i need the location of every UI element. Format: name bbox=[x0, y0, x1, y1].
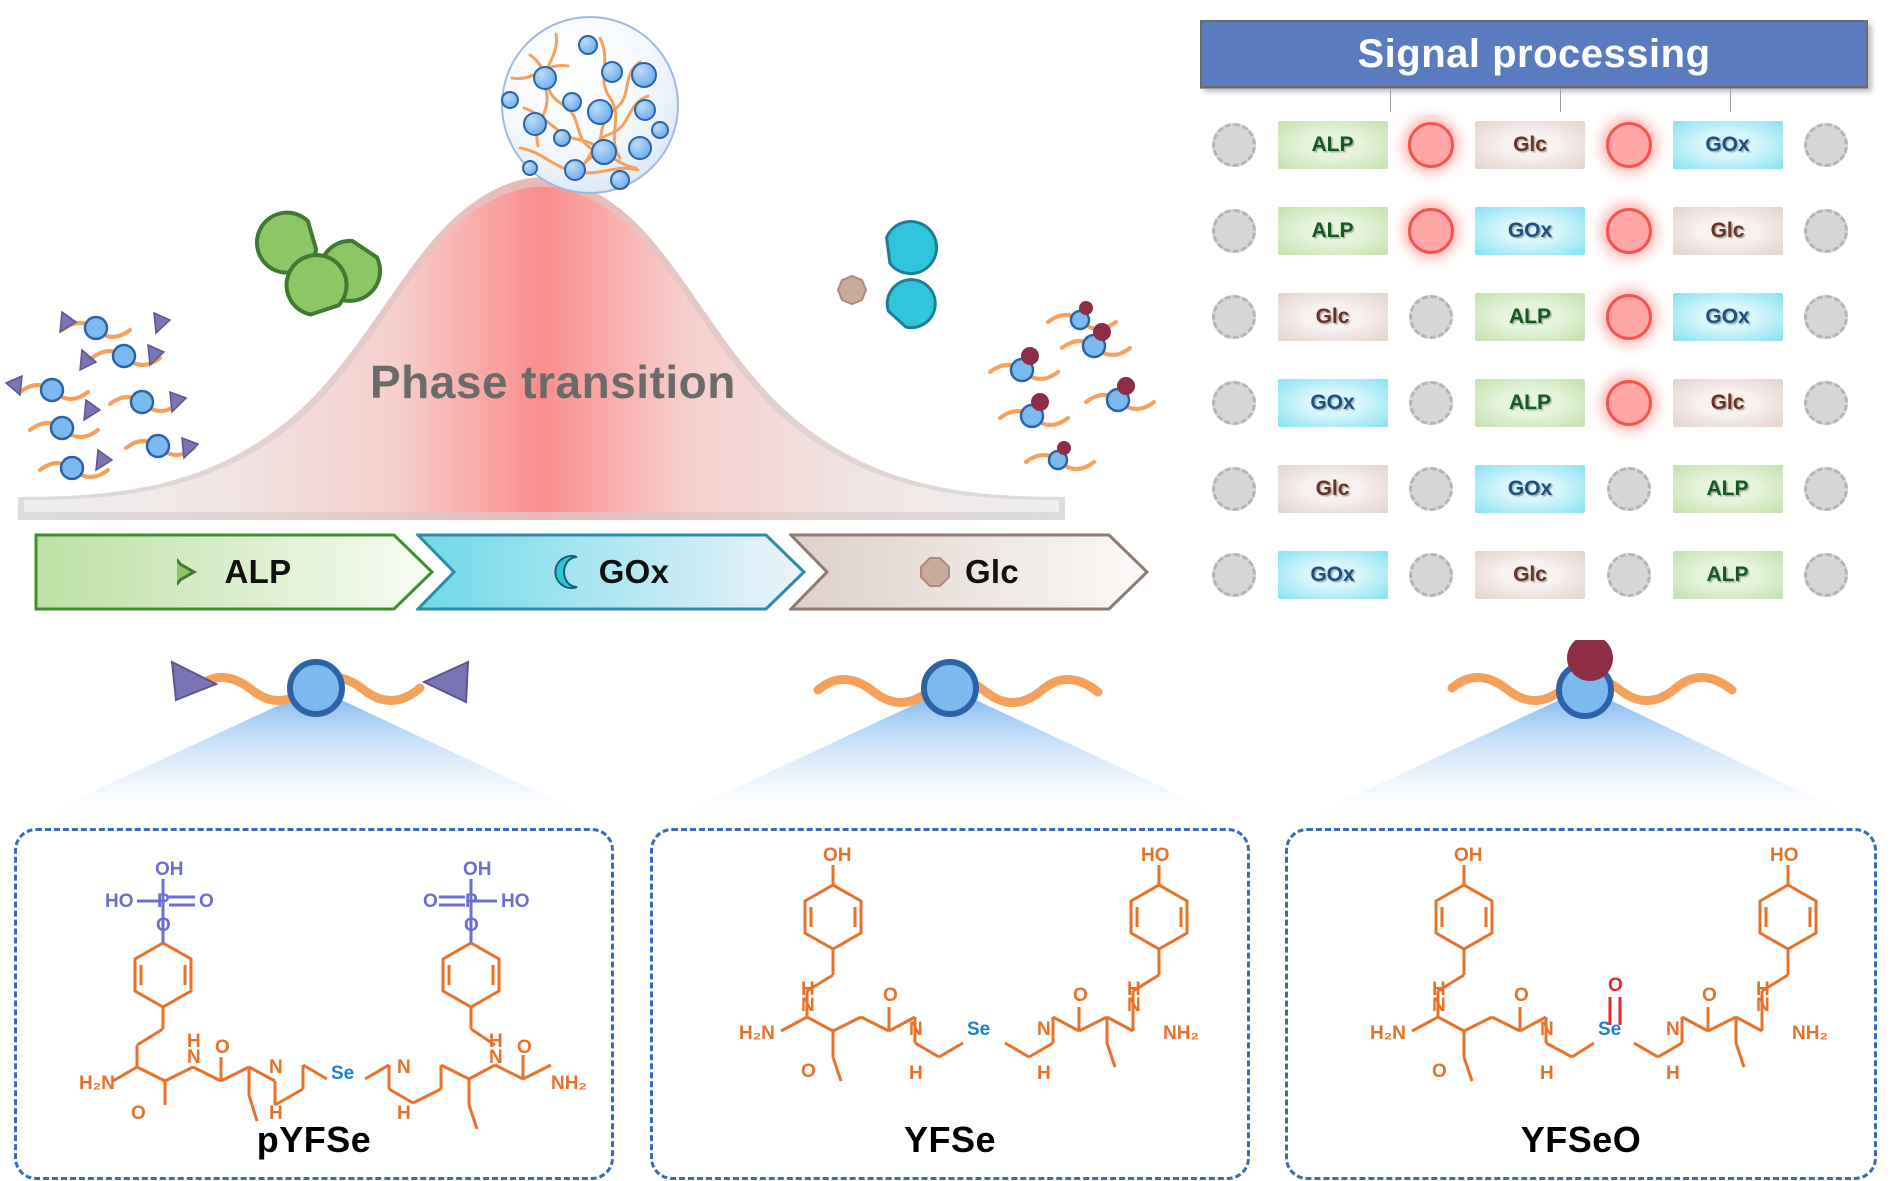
atom-label: O bbox=[1702, 985, 1717, 1006]
inactive-node-icon bbox=[1607, 467, 1651, 511]
pacman-green-icon bbox=[177, 555, 211, 589]
atom-label: NH₂ bbox=[1163, 1023, 1199, 1044]
atom-label: O bbox=[156, 915, 171, 936]
atom-label: N bbox=[1540, 1019, 1554, 1040]
grid-rule-v3 bbox=[1730, 88, 1731, 112]
grid-dot-red bbox=[1585, 196, 1673, 266]
atom-label: OH bbox=[155, 859, 184, 880]
grid-dot-gray bbox=[1585, 454, 1673, 524]
atom-label: O bbox=[423, 891, 438, 912]
chip-label: GOx bbox=[1475, 465, 1585, 513]
atom-label: H bbox=[187, 1031, 201, 1052]
pyfse-chain-icon bbox=[172, 662, 468, 714]
zoom-beams bbox=[0, 640, 1890, 850]
signal-processing-title: Signal processing bbox=[1200, 20, 1868, 88]
grid-chip-gox[interactable]: GOx bbox=[1278, 540, 1388, 610]
signal-processing-grid: ALPGlcGOxALPGOxGlcGlcALPGOxGOxALPGlcGlcG… bbox=[1190, 110, 1870, 610]
atom-label: O bbox=[517, 1037, 532, 1058]
chip-label: ALP bbox=[1673, 465, 1783, 513]
grid-dot-red bbox=[1585, 282, 1673, 352]
grid-dot-gray bbox=[1190, 368, 1278, 438]
chevron-glc[interactable]: Glc bbox=[789, 533, 1149, 611]
atom-label: N bbox=[1666, 1019, 1680, 1040]
atom-label: O bbox=[1514, 985, 1529, 1006]
active-node-icon bbox=[1408, 122, 1454, 168]
grid-chip-glc[interactable]: Glc bbox=[1673, 196, 1783, 266]
grid-dot-gray bbox=[1388, 540, 1476, 610]
grid-chip-gox[interactable]: GOx bbox=[1475, 454, 1585, 524]
inactive-node-icon bbox=[1212, 209, 1256, 253]
selenium-label: Se bbox=[967, 1019, 990, 1040]
grid-chip-gox[interactable]: GOx bbox=[1673, 282, 1783, 352]
chevron-alp[interactable]: ALP bbox=[34, 533, 434, 611]
atom-label: H bbox=[1540, 1063, 1554, 1084]
grid-chip-gox[interactable]: GOx bbox=[1278, 368, 1388, 438]
figure-root: Phase transition ALP bbox=[0, 0, 1890, 1181]
grid-dot-gray bbox=[1388, 454, 1476, 524]
grid-dot-gray bbox=[1388, 368, 1476, 438]
gox-enzyme-group bbox=[838, 214, 944, 334]
chip-label: GOx bbox=[1278, 551, 1388, 599]
inactive-node-icon bbox=[1409, 553, 1453, 597]
glc-octagon-icon bbox=[838, 276, 866, 304]
chevron-alp-label: ALP bbox=[225, 553, 292, 591]
yfseo-chain-cluster bbox=[990, 301, 1154, 469]
inactive-node-icon bbox=[1212, 295, 1256, 339]
chip-label: ALP bbox=[1475, 379, 1585, 427]
atom-label: O bbox=[1073, 985, 1088, 1006]
inactive-node-icon bbox=[1804, 467, 1848, 511]
atom-label: OH bbox=[823, 845, 852, 866]
atom-label: H bbox=[1432, 979, 1446, 1000]
grid-chip-alp[interactable]: ALP bbox=[1673, 540, 1783, 610]
grid-chip-alp[interactable]: ALP bbox=[1673, 454, 1783, 524]
grid-dot-gray bbox=[1190, 540, 1278, 610]
inactive-node-icon bbox=[1409, 381, 1453, 425]
chip-label: Glc bbox=[1475, 551, 1585, 599]
grid-dot-gray bbox=[1783, 454, 1871, 524]
active-node-icon bbox=[1408, 208, 1454, 254]
grid-dot-gray bbox=[1783, 540, 1871, 610]
active-node-icon bbox=[1606, 208, 1652, 254]
pyfse-structure: OH HO P O O OH HO P O O H₂N NH₂ Se N H N… bbox=[17, 839, 617, 1129]
pyfse-chain-cluster bbox=[6, 312, 198, 479]
grid-chip-alp[interactable]: ALP bbox=[1278, 110, 1388, 180]
atom-label: O bbox=[464, 915, 479, 936]
active-node-icon bbox=[1606, 122, 1652, 168]
grid-dot-gray bbox=[1388, 282, 1476, 352]
inactive-node-icon bbox=[1212, 553, 1256, 597]
atom-label: P bbox=[465, 891, 478, 912]
inactive-node-icon bbox=[1607, 553, 1651, 597]
chip-label: GOx bbox=[1673, 121, 1783, 169]
chip-label: ALP bbox=[1278, 121, 1388, 169]
atom-label: H₂N bbox=[79, 1073, 115, 1094]
atom-label: HO bbox=[105, 891, 134, 912]
grid-dot-gray bbox=[1190, 282, 1278, 352]
molecule-panel-yfseo: OH HO H₂N NH₂ Se O N H N H N H N H O O O… bbox=[1285, 828, 1877, 1180]
atom-label: NH₂ bbox=[551, 1073, 587, 1094]
inactive-node-icon bbox=[1212, 123, 1256, 167]
chip-label: Glc bbox=[1278, 465, 1388, 513]
grid-dot-gray bbox=[1783, 282, 1871, 352]
enzyme-cascade-chevrons: ALP GOx bbox=[34, 533, 1144, 611]
active-node-icon bbox=[1606, 294, 1652, 340]
grid-dot-gray bbox=[1783, 110, 1871, 180]
grid-dot-gray bbox=[1783, 196, 1871, 266]
atom-label: HO bbox=[1770, 845, 1799, 866]
atom-label: HO bbox=[1141, 845, 1170, 866]
inactive-node-icon bbox=[1212, 467, 1256, 511]
grid-dot-red bbox=[1388, 110, 1476, 180]
atom-label: NH₂ bbox=[1792, 1023, 1828, 1044]
atom-label: H bbox=[1666, 1063, 1680, 1084]
chip-label: Glc bbox=[1475, 121, 1585, 169]
atom-label: N bbox=[1037, 1019, 1051, 1040]
atom-label: H₂N bbox=[1370, 1023, 1406, 1044]
grid-dot-gray bbox=[1190, 454, 1278, 524]
atom-label: P bbox=[157, 891, 170, 912]
alp-enzyme-group bbox=[251, 207, 390, 320]
yfseo-structure: OH HO H₂N NH₂ Se O N H N H N H N H O O O bbox=[1288, 839, 1880, 1129]
grid-dot-red bbox=[1388, 196, 1476, 266]
atom-label: HO bbox=[501, 891, 530, 912]
chip-label: Glc bbox=[1673, 207, 1783, 255]
chip-label: GOx bbox=[1475, 207, 1585, 255]
inactive-node-icon bbox=[1409, 467, 1453, 511]
molecule-panel-pyfse: OH HO P O O OH HO P O O H₂N NH₂ Se N H N… bbox=[14, 828, 614, 1180]
selenoxide-oxygen-label: O bbox=[1608, 975, 1623, 996]
atom-label: H bbox=[909, 1063, 923, 1084]
grid-chip-glc[interactable]: Glc bbox=[1673, 368, 1783, 438]
grid-chip-gox[interactable]: GOx bbox=[1475, 196, 1585, 266]
selenium-label: Se bbox=[331, 1063, 354, 1084]
inactive-node-icon bbox=[1804, 295, 1848, 339]
atom-label: H bbox=[489, 1031, 503, 1052]
atom-label: O bbox=[199, 891, 214, 912]
molecule-title-pyfse: pYFSe bbox=[17, 1119, 611, 1161]
inactive-node-icon bbox=[1804, 381, 1848, 425]
atom-label: H bbox=[1037, 1063, 1051, 1084]
yfseo-chain-icon bbox=[1452, 640, 1732, 716]
chip-label: ALP bbox=[1278, 207, 1388, 255]
grid-chip-glc[interactable]: Glc bbox=[1475, 540, 1585, 610]
nanoparticle-sphere bbox=[502, 17, 678, 193]
inactive-node-icon bbox=[1804, 209, 1848, 253]
atom-label: O bbox=[801, 1061, 816, 1082]
crescent-cyan-icon bbox=[553, 555, 585, 589]
chip-label: GOx bbox=[1278, 379, 1388, 427]
grid-rule-horizontal bbox=[1200, 88, 1868, 89]
atom-label: N bbox=[397, 1057, 411, 1078]
grid-chip-alp[interactable]: ALP bbox=[1278, 196, 1388, 266]
inactive-node-icon bbox=[1409, 295, 1453, 339]
atom-label: N bbox=[909, 1019, 923, 1040]
grid-chip-glc[interactable]: Glc bbox=[1475, 110, 1585, 180]
grid-rule-v1 bbox=[1390, 88, 1391, 112]
atom-label: OH bbox=[463, 859, 492, 880]
grid-chip-glc[interactable]: Glc bbox=[1278, 454, 1388, 524]
atom-label: O bbox=[215, 1037, 230, 1058]
molecule-title-yfse: YFSe bbox=[653, 1119, 1247, 1161]
chevron-gox-label: GOx bbox=[599, 553, 670, 591]
grid-chip-gox[interactable]: GOx bbox=[1673, 110, 1783, 180]
grid-dot-gray bbox=[1190, 196, 1278, 266]
atom-label: OH bbox=[1454, 845, 1483, 866]
atom-label: H bbox=[801, 979, 815, 1000]
selenium-label: Se bbox=[1598, 1019, 1621, 1040]
yfse-chain-icon bbox=[818, 662, 1098, 714]
chevron-gox[interactable]: GOx bbox=[416, 533, 806, 611]
grid-dot-gray bbox=[1783, 368, 1871, 438]
grid-dot-gray bbox=[1585, 540, 1673, 610]
chip-label: ALP bbox=[1475, 293, 1585, 341]
atom-label: H bbox=[1127, 979, 1141, 1000]
atom-label: O bbox=[883, 985, 898, 1006]
inactive-node-icon bbox=[1212, 381, 1256, 425]
grid-chip-glc[interactable]: Glc bbox=[1278, 282, 1388, 352]
chip-label: GOx bbox=[1673, 293, 1783, 341]
chip-label: ALP bbox=[1673, 551, 1783, 599]
chip-label: Glc bbox=[1673, 379, 1783, 427]
inactive-node-icon bbox=[1804, 123, 1848, 167]
yfse-structure: OH HO H₂N NH₂ Se N H N H N H N H O O O bbox=[653, 839, 1253, 1129]
grid-rule-v2 bbox=[1560, 88, 1561, 112]
grid-dot-gray bbox=[1190, 110, 1278, 180]
grid-chip-alp[interactable]: ALP bbox=[1475, 282, 1585, 352]
grid-dot-red bbox=[1585, 110, 1673, 180]
molecule-title-yfseo: YFSeO bbox=[1288, 1119, 1874, 1161]
active-node-icon bbox=[1606, 380, 1652, 426]
grid-chip-alp[interactable]: ALP bbox=[1475, 368, 1585, 438]
chevron-glc-label: Glc bbox=[965, 553, 1019, 591]
atom-label: O bbox=[1432, 1061, 1447, 1082]
signal-processing-panel: Signal processing ALPGlcGOxALPGOxGlcGlcA… bbox=[1190, 20, 1870, 640]
octagon-tan-icon bbox=[919, 556, 951, 588]
atom-label: H₂N bbox=[739, 1023, 775, 1044]
phase-transition-label: Phase transition bbox=[370, 355, 736, 409]
grid-dot-red bbox=[1585, 368, 1673, 438]
chip-label: Glc bbox=[1278, 293, 1388, 341]
atom-label: N bbox=[269, 1057, 283, 1078]
molecule-panel-yfse: OH HO H₂N NH₂ Se N H N H N H N H O O O Y… bbox=[650, 828, 1250, 1180]
inactive-node-icon bbox=[1804, 553, 1848, 597]
atom-label: H bbox=[1756, 979, 1770, 1000]
